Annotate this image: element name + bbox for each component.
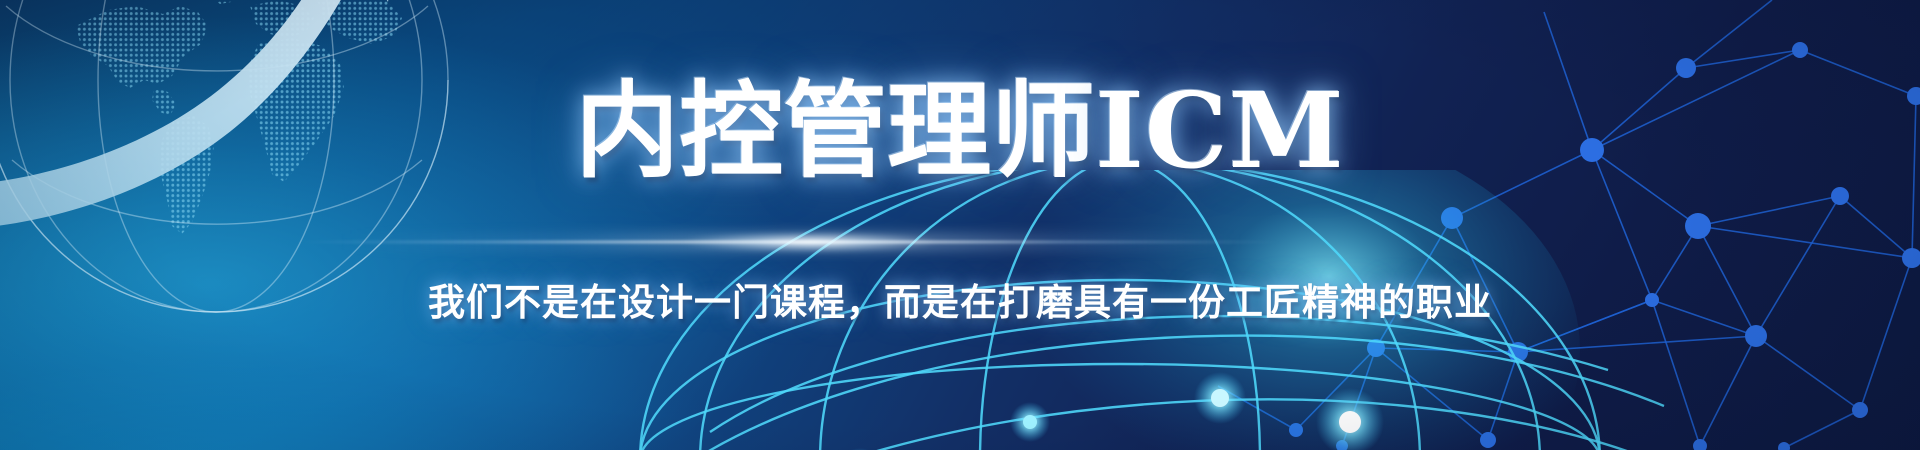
banner-title: 内控管理师ICM (575, 78, 1345, 184)
hero-banner: 内控管理师ICM 我们不是在设计一门课程，而是在打磨具有一份工匠精神的职业 (0, 0, 1920, 450)
banner-title-latin: ICM (1095, 69, 1345, 192)
banner-text-block: 内控管理师ICM 我们不是在设计一门课程，而是在打磨具有一份工匠精神的职业 (0, 0, 1920, 450)
banner-subtitle: 我们不是在设计一门课程，而是在打磨具有一份工匠精神的职业 (428, 272, 1492, 326)
banner-title-chinese: 内控管理师 (575, 70, 1095, 192)
